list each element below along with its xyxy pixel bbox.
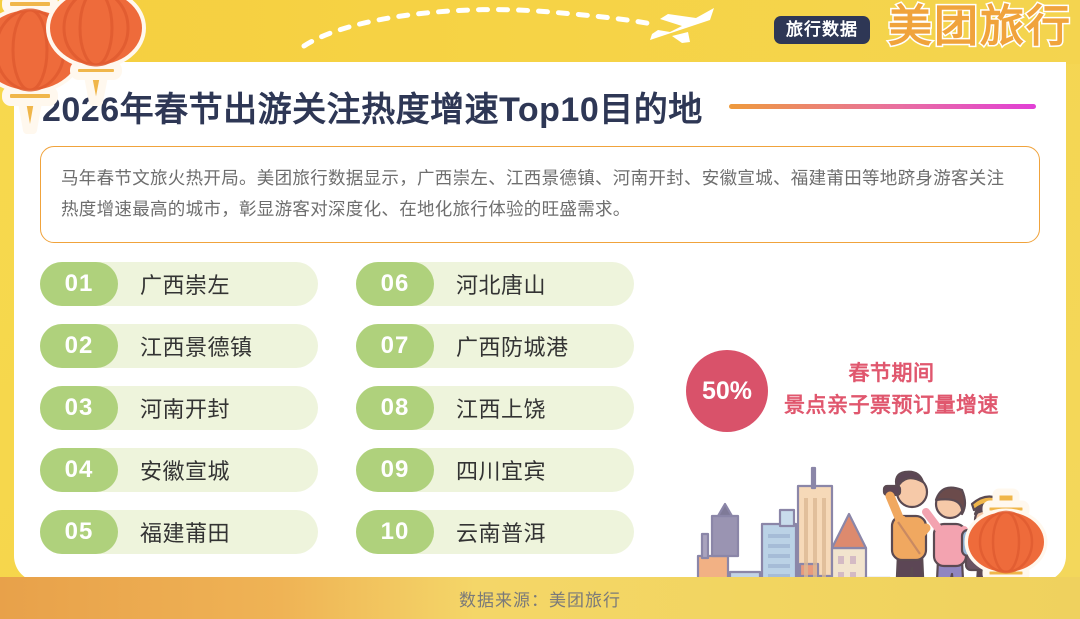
rank-destination-name: 江西景德镇 [140,330,253,362]
rank-item[interactable]: 10云南普洱 [356,510,634,554]
rank-number: 06 [356,262,434,306]
rank-item[interactable]: 03河南开封 [40,386,318,430]
rank-number: 09 [356,448,434,492]
rank-number: 02 [40,324,118,368]
content-card: 2026年春节出游关注热度增速Top10目的地 马年春节文旅火热开局。美团旅行数… [14,62,1066,582]
title-divider [729,104,1036,109]
rank-number: 01 [40,262,118,306]
footer-bar: 数据来源：美团旅行 [0,577,1080,619]
stat-circle: 50% [686,350,768,432]
ranking-list-left: 01广西崇左02江西景德镇03河南开封04安徽宣城05福建莆田 [40,262,318,572]
airplane-icon [648,6,718,52]
stat-caption: 春节期间 景点亲子票预订量增速 [784,358,999,421]
rank-number: 07 [356,324,434,368]
rank-destination-name: 河北唐山 [456,268,546,300]
rank-item[interactable]: 07广西防城港 [356,324,634,368]
rank-item[interactable]: 04安徽宣城 [40,448,318,492]
intro-box: 马年春节文旅火热开局。美团旅行数据显示，广西崇左、江西景德镇、河南开封、安徽宣城… [40,146,1040,243]
rank-destination-name: 江西上饶 [456,392,546,424]
rank-destination-name: 广西防城港 [456,330,569,362]
rank-item[interactable]: 05福建莆田 [40,510,318,554]
intro-text: 马年春节文旅火热开局。美团旅行数据显示，广西崇左、江西景德镇、河南开封、安徽宣城… [61,163,1019,224]
stat-caption-line1: 春节期间 [784,358,999,390]
rank-destination-name: 四川宜宾 [456,454,546,486]
rank-destination-name: 广西崇左 [140,268,230,300]
source-text: 数据来源：美团旅行 [459,586,621,611]
rank-destination-name: 安徽宣城 [140,454,230,486]
title-row: 2026年春节出游关注热度增速Top10目的地 [42,82,1042,130]
rank-number: 10 [356,510,434,554]
dashed-flight-path-icon [300,2,660,52]
rank-number: 05 [40,510,118,554]
brand-logo: 美团旅行 [888,2,1072,53]
rank-number: 08 [356,386,434,430]
rank-number: 04 [40,448,118,492]
red-lantern-icon [34,0,164,114]
data-badge: 旅行数据 [774,16,870,44]
rank-item[interactable]: 01广西崇左 [40,262,318,306]
rank-item[interactable]: 06河北唐山 [356,262,634,306]
rank-number: 03 [40,386,118,430]
stat-caption-line2: 景点亲子票预订量增速 [784,390,999,422]
ranking-list-right: 06河北唐山07广西防城港08江西上饶09四川宜宾10云南普洱 [356,262,634,572]
rank-item[interactable]: 09四川宜宾 [356,448,634,492]
rank-item[interactable]: 02江西景德镇 [40,324,318,368]
rank-destination-name: 云南普洱 [456,516,546,548]
infographic-poster: 旅行数据 美团旅行 2026年春节出游关注热度增速Top10目的地 马年春节文旅… [0,0,1080,619]
rank-destination-name: 河南开封 [140,392,230,424]
rank-item[interactable]: 08江西上饶 [356,386,634,430]
rank-destination-name: 福建莆田 [140,516,230,548]
